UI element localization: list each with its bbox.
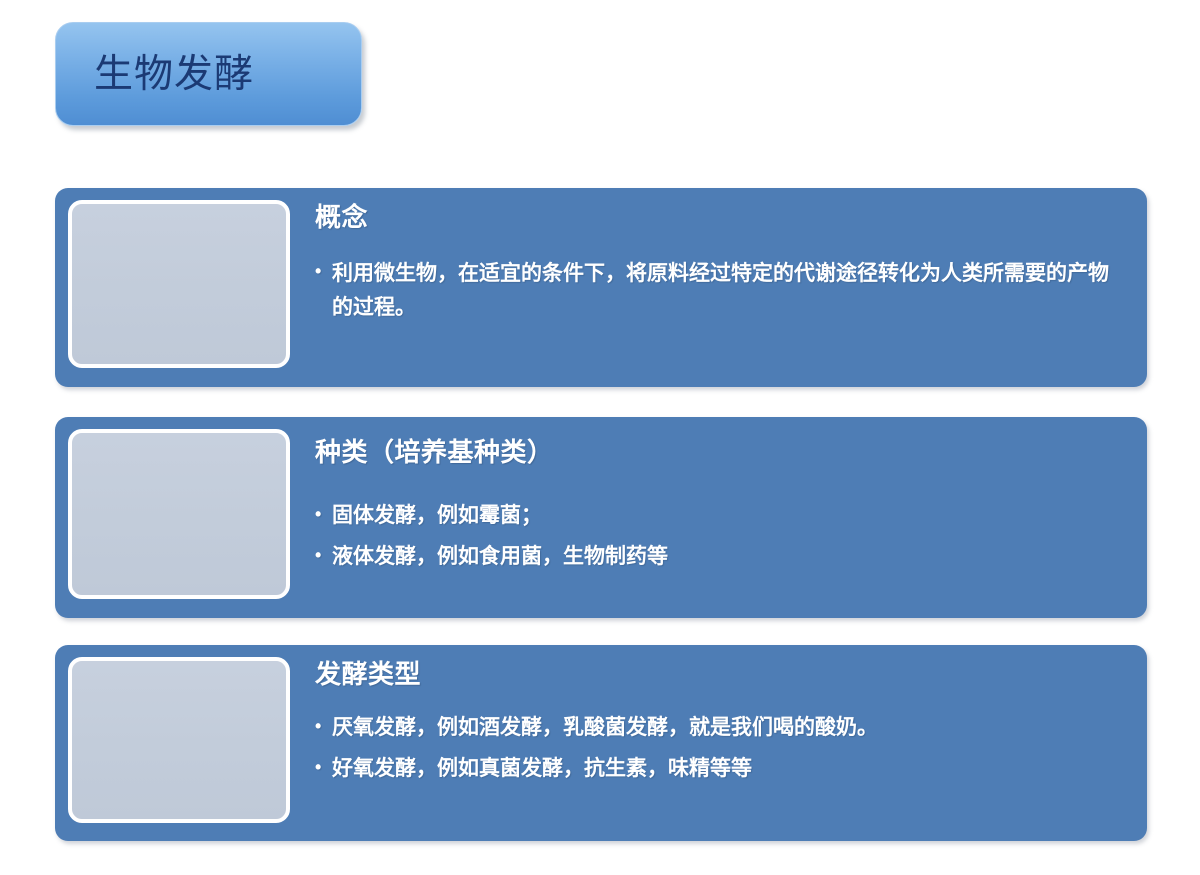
list-item: 好氧发酵，例如真菌发酵，抗生素，味精等等 — [315, 753, 1129, 786]
image-placeholder — [68, 429, 290, 599]
content-card-concept: 概念 利用微生物，在适宜的条件下，将原料经过特定的代谢途径转化为人类所需要的产物… — [55, 188, 1147, 387]
card-heading: 发酵类型 — [315, 659, 1129, 690]
bullet-list: 利用微生物，在适宜的条件下，将原料经过特定的代谢途径转化为人类所需要的产物的过程… — [315, 257, 1129, 325]
card-body: 发酵类型 厌氧发酵，例如酒发酵，乳酸菌发酵，就是我们喝的酸奶。 好氧发酵，例如真… — [290, 645, 1147, 785]
list-item: 厌氧发酵，例如酒发酵，乳酸菌发酵，就是我们喝的酸奶。 — [315, 712, 1129, 745]
slide-title-pill: 生物发酵 — [55, 22, 362, 126]
list-item: 液体发酵，例如食用菌，生物制药等 — [315, 541, 1129, 574]
list-item: 固体发酵，例如霉菌； — [315, 500, 1129, 533]
bullet-list: 厌氧发酵，例如酒发酵，乳酸菌发酵，就是我们喝的酸奶。 好氧发酵，例如真菌发酵，抗… — [315, 712, 1129, 785]
content-card-fermentation-type: 发酵类型 厌氧发酵，例如酒发酵，乳酸菌发酵，就是我们喝的酸奶。 好氧发酵，例如真… — [55, 645, 1147, 841]
page-title: 生物发酵 — [56, 55, 254, 94]
card-heading: 种类（培养基种类） — [315, 437, 1129, 468]
bullet-list: 固体发酵，例如霉菌； 液体发酵，例如食用菌，生物制药等 — [315, 500, 1129, 573]
content-card-types: 种类（培养基种类） 固体发酵，例如霉菌； 液体发酵，例如食用菌，生物制药等 — [55, 417, 1147, 618]
card-heading: 概念 — [315, 202, 1129, 233]
image-placeholder — [68, 200, 290, 368]
list-item: 利用微生物，在适宜的条件下，将原料经过特定的代谢途径转化为人类所需要的产物的过程… — [315, 257, 1129, 325]
image-placeholder — [68, 657, 290, 823]
card-body: 种类（培养基种类） 固体发酵，例如霉菌； 液体发酵，例如食用菌，生物制药等 — [290, 417, 1147, 573]
card-body: 概念 利用微生物，在适宜的条件下，将原料经过特定的代谢途径转化为人类所需要的产物… — [290, 188, 1147, 325]
